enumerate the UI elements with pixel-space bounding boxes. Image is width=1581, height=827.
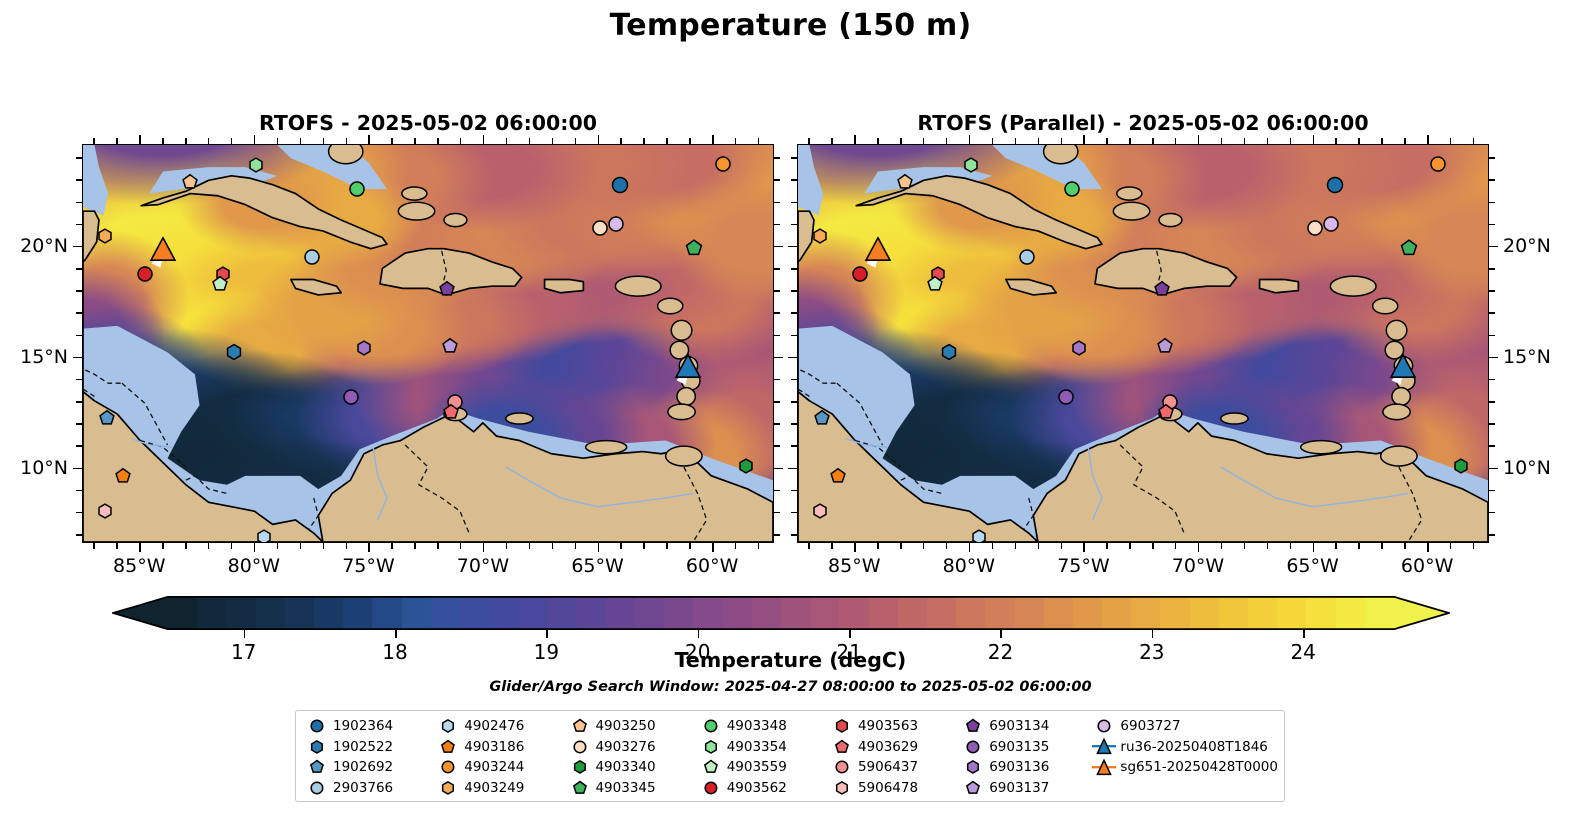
- lon-tick: [529, 543, 530, 549]
- lat-tick: [1489, 202, 1495, 203]
- colorbar-tick: [1303, 630, 1305, 638]
- argo-float-marker[interactable]: [611, 175, 630, 194]
- lat-tick-mirror: [791, 423, 797, 424]
- lon-tick: [1358, 543, 1359, 549]
- lon-tick: [854, 543, 855, 552]
- island-7: [668, 404, 695, 420]
- colorbar-outline: [112, 596, 1450, 630]
- colorbar-tick: [1000, 630, 1002, 638]
- lat-tick-mirror: [774, 290, 780, 291]
- lat-tick-mirror: [791, 179, 797, 180]
- legend-label: 4903563: [855, 718, 918, 734]
- legend-label: 1902522: [330, 739, 393, 755]
- glider-marker[interactable]: [149, 236, 177, 268]
- lon-tick-top: [666, 138, 667, 144]
- lon-tick-top: [643, 138, 644, 144]
- island-9: [1301, 441, 1342, 454]
- lat-tick: [76, 379, 82, 380]
- lon-tick-label: 75°W: [342, 555, 394, 577]
- lat-tick-mirror: [791, 445, 797, 446]
- argo-float-marker[interactable]: [212, 275, 229, 292]
- legend-label: 4903629: [855, 739, 918, 755]
- lon-tick-top: [391, 138, 392, 144]
- legend-entry[interactable]: ru36-20250408T1846: [1091, 737, 1278, 758]
- lon-tick: [1175, 543, 1176, 549]
- argo-float-marker[interactable]: [442, 403, 459, 420]
- lat-tick-label: 10°N: [20, 457, 68, 479]
- argo-float-marker[interactable]: [181, 173, 198, 190]
- lon-tick-top: [854, 135, 855, 144]
- lat-tick-mirror: [791, 268, 797, 269]
- lon-tick: [643, 543, 644, 549]
- lat-tick: [76, 490, 82, 491]
- legend-entry[interactable]: 6903135: [960, 737, 1091, 758]
- lon-tick-top: [1290, 138, 1291, 144]
- argo-float-marker[interactable]: [896, 173, 913, 190]
- lon-tick-top: [1129, 138, 1130, 144]
- lon-tick-top: [1381, 138, 1382, 144]
- lon-tick-top: [300, 138, 301, 144]
- argo-float-marker[interactable]: [348, 180, 366, 198]
- argo-float-marker[interactable]: [439, 280, 456, 297]
- legend-entry[interactable]: 6903136: [960, 757, 1091, 778]
- lon-tick: [808, 543, 809, 549]
- lon-tick-top: [1267, 138, 1268, 144]
- lon-tick: [277, 543, 278, 549]
- lon-tick: [1290, 543, 1291, 549]
- lon-tick: [414, 543, 415, 549]
- lat-tick: [76, 224, 82, 225]
- legend-entry[interactable]: 4903186: [435, 737, 566, 758]
- lon-tick: [1152, 543, 1153, 549]
- legend-hexagon-icon: [566, 759, 592, 775]
- argo-float-marker[interactable]: [355, 339, 372, 356]
- lat-tick-label: 20°N: [20, 235, 68, 257]
- legend-label: 2903766: [330, 780, 393, 796]
- legend-entry[interactable]: 4903563: [829, 716, 960, 737]
- lon-tick: [552, 543, 553, 549]
- argo-float-marker[interactable]: [1326, 175, 1345, 194]
- argo-float-marker[interactable]: [607, 214, 625, 232]
- legend-entry[interactable]: 6903134: [960, 716, 1091, 737]
- legend-label: 4903244: [461, 759, 524, 775]
- argo-float-marker[interactable]: [684, 239, 702, 257]
- legend-circle-icon: [566, 739, 592, 755]
- legend-label: 4903354: [724, 739, 787, 755]
- lat-tick-label: 10°N: [1503, 457, 1551, 479]
- argo-float-marker[interactable]: [1057, 387, 1075, 405]
- search-window-caption: Glider/Argo Search Window: 2025-04-27 08…: [0, 679, 1581, 695]
- lon-tick-top: [689, 138, 690, 144]
- lat-tick: [76, 157, 82, 158]
- lon-tick: [620, 543, 621, 549]
- lon-tick: [1106, 543, 1107, 549]
- argo-float-marker[interactable]: [811, 227, 828, 244]
- lon-tick-top: [900, 138, 901, 144]
- panel-title-rtofs: RTOFS - 2025-05-02 06:00:00: [82, 111, 774, 135]
- lat-tick-mirror: [774, 246, 783, 247]
- lat-tick-mirror: [774, 268, 780, 269]
- lat-tick-mirror: [791, 312, 797, 313]
- legend-entry[interactable]: 4903559: [698, 757, 829, 778]
- lon-tick-top: [1152, 138, 1153, 144]
- lon-tick: [460, 543, 461, 549]
- lat-tick: [1489, 379, 1495, 380]
- legend-label: 4903250: [592, 718, 655, 734]
- legend-pentagon-icon: [304, 759, 330, 775]
- legend-entry[interactable]: 6903137: [960, 778, 1091, 799]
- lon-tick-top: [185, 138, 186, 144]
- lat-tick-mirror: [774, 157, 780, 158]
- island-9: [586, 441, 627, 454]
- lon-tick-top: [346, 138, 347, 144]
- lat-tick-mirror: [774, 179, 780, 180]
- legend-hexagon-icon: [435, 718, 461, 734]
- lat-tick: [1489, 357, 1498, 358]
- lat-tick: [1489, 335, 1495, 336]
- lon-tick-top: [139, 135, 140, 144]
- lat-tick: [1489, 179, 1495, 180]
- legend-entry[interactable]: 6903727: [1091, 716, 1278, 737]
- lon-tick-top: [1061, 138, 1062, 144]
- lon-tick: [1221, 543, 1222, 549]
- legend-circle-icon: [960, 739, 986, 755]
- lon-tick: [483, 543, 484, 552]
- argo-float-marker[interactable]: [1429, 155, 1447, 173]
- legend-label: 5906478: [855, 780, 918, 796]
- lat-tick: [73, 246, 82, 247]
- legend-circle-icon: [829, 759, 855, 775]
- lon-tick-top: [992, 138, 993, 144]
- legend-pentagon-icon: [960, 780, 986, 796]
- lat-tick: [76, 179, 82, 180]
- legend-label: 6903137: [986, 780, 1049, 796]
- argo-float-marker[interactable]: [962, 156, 979, 173]
- legend-hexagon-icon: [829, 718, 855, 734]
- argo-float-marker[interactable]: [1157, 403, 1174, 420]
- glider-marker[interactable]: [864, 236, 892, 268]
- lon-tick: [1335, 543, 1336, 549]
- legend-circle-icon: [698, 780, 724, 796]
- legend-entry[interactable]: 2903766: [304, 778, 435, 799]
- lon-tick: [1061, 543, 1062, 549]
- glider-marker[interactable]: [1389, 354, 1417, 386]
- lon-tick: [300, 543, 301, 549]
- island-8: [1381, 446, 1417, 466]
- lon-tick: [93, 543, 94, 549]
- argo-float-marker[interactable]: [927, 275, 944, 292]
- island-7: [1383, 404, 1410, 420]
- lon-tick-top: [1106, 138, 1107, 144]
- lon-tick-top: [529, 138, 530, 144]
- legend-label: 4903562: [724, 780, 787, 796]
- legend-entry[interactable]: 4903348: [698, 716, 829, 737]
- legend-entry[interactable]: 4903249: [435, 778, 566, 799]
- legend-entry[interactable]: 1902522: [304, 737, 435, 758]
- lon-tick: [946, 543, 947, 549]
- argo-float-marker[interactable]: [1322, 214, 1340, 232]
- lat-tick: [76, 335, 82, 336]
- lat-tick-mirror: [791, 401, 797, 402]
- legend-entry[interactable]: 4903276: [566, 737, 697, 758]
- argo-float-marker[interactable]: [342, 387, 360, 405]
- lon-tick-label: 80°W: [228, 555, 280, 577]
- lon-tick: [185, 543, 186, 549]
- island-0: [1330, 276, 1376, 296]
- island-6: [1392, 388, 1410, 406]
- lat-tick-mirror: [774, 468, 783, 469]
- colorbar-tick: [698, 630, 700, 638]
- lat-tick-mirror: [788, 468, 797, 469]
- island-2: [671, 320, 692, 340]
- lat-tick: [1489, 534, 1495, 535]
- island-10: [1221, 413, 1248, 424]
- platform-legend[interactable]: 1902364190252219026922903766490247649031…: [295, 710, 1285, 802]
- lon-tick-label: 60°W: [1401, 555, 1453, 577]
- lon-tick: [666, 543, 667, 549]
- lon-tick-top: [620, 138, 621, 144]
- lat-tick: [1489, 312, 1495, 313]
- lat-tick-mirror: [774, 312, 780, 313]
- lat-tick: [76, 268, 82, 269]
- lon-tick: [1015, 543, 1016, 549]
- panel-title-rtofs-parallel: RTOFS (Parallel) - 2025-05-02 06:00:00: [797, 111, 1489, 135]
- argo-float-marker[interactable]: [1156, 337, 1173, 354]
- colorbar-tick: [1152, 630, 1154, 638]
- legend-label: ru36-20250408T1846: [1117, 739, 1267, 755]
- lat-tick: [1489, 157, 1495, 158]
- lon-tick-top: [1015, 138, 1016, 144]
- lat-tick: [1489, 468, 1498, 469]
- lon-tick-top: [277, 138, 278, 144]
- legend-label: 4903559: [724, 759, 787, 775]
- lon-tick: [831, 543, 832, 549]
- legend-entry[interactable]: 4903340: [566, 757, 697, 778]
- lon-tick: [1038, 543, 1039, 549]
- lon-tick-label: 70°W: [457, 555, 509, 577]
- lat-tick: [1489, 512, 1495, 513]
- lon-tick-label: 70°W: [1172, 555, 1224, 577]
- map-canvas-rtofs[interactable]: [82, 144, 774, 543]
- legend-label: 5906437: [855, 759, 918, 775]
- lon-tick-label: 65°W: [1286, 555, 1338, 577]
- legend-label: 6903134: [986, 718, 1049, 734]
- legend-entry[interactable]: 5906478: [829, 778, 960, 799]
- argo-float-marker[interactable]: [811, 502, 828, 519]
- lon-tick-top: [735, 138, 736, 144]
- legend-grid: 1902364190252219026922903766490247649031…: [304, 716, 1278, 798]
- lat-tick: [1489, 490, 1495, 491]
- argo-float-marker[interactable]: [1399, 239, 1417, 257]
- island-2: [1386, 320, 1407, 340]
- lon-tick: [992, 543, 993, 549]
- legend-entry[interactable]: 4903354: [698, 737, 829, 758]
- argo-float-marker[interactable]: [1453, 458, 1470, 475]
- lon-tick-top: [969, 135, 970, 144]
- colorbar[interactable]: 1718192021222324: [112, 596, 1450, 630]
- lon-tick-top: [598, 135, 599, 144]
- lon-tick-top: [460, 138, 461, 144]
- argo-float-marker[interactable]: [970, 529, 987, 543]
- legend-entry[interactable]: 4903244: [435, 757, 566, 778]
- lon-tick-top: [162, 138, 163, 144]
- lat-tick: [1489, 290, 1495, 291]
- lon-tick-top: [1175, 138, 1176, 144]
- lat-tick: [76, 445, 82, 446]
- argo-float-marker[interactable]: [247, 156, 264, 173]
- argo-float-marker[interactable]: [1070, 339, 1087, 356]
- lat-tick-mirror: [774, 401, 780, 402]
- lon-tick: [1473, 543, 1474, 549]
- lon-tick-label: 80°W: [943, 555, 995, 577]
- lon-tick-top: [831, 138, 832, 144]
- lon-tick: [391, 543, 392, 549]
- lon-tick-label: 60°W: [686, 555, 738, 577]
- legend-pentagon-icon: [698, 759, 724, 775]
- legend-label: 6903727: [1117, 718, 1180, 734]
- legend-label: 6903136: [986, 759, 1049, 775]
- legend-circle-icon: [698, 718, 724, 734]
- lon-tick: [758, 543, 759, 549]
- argo-float-marker[interactable]: [96, 227, 113, 244]
- legend-pentagon-icon: [829, 739, 855, 755]
- legend-circle-icon: [435, 759, 461, 775]
- lon-tick-top: [1244, 138, 1245, 144]
- legend-entry[interactable]: sg651-20250428T0000: [1091, 757, 1278, 778]
- legend-entry[interactable]: 4902476: [435, 716, 566, 737]
- island-8: [666, 446, 702, 466]
- lat-tick-label: 15°N: [20, 346, 68, 368]
- lat-tick: [76, 290, 82, 291]
- legend-pentagon-icon: [566, 780, 592, 796]
- lon-tick: [437, 543, 438, 549]
- argo-float-marker[interactable]: [303, 248, 321, 266]
- legend-circle-icon: [304, 780, 330, 796]
- lon-tick: [1244, 543, 1245, 549]
- argo-float-marker[interactable]: [738, 458, 755, 475]
- legend-pentagon-icon: [435, 739, 461, 755]
- argo-float-marker[interactable]: [1018, 248, 1036, 266]
- island-17: [1117, 187, 1142, 200]
- argo-float-marker[interactable]: [940, 343, 958, 361]
- lon-tick: [346, 543, 347, 549]
- lon-tick-top: [1335, 138, 1336, 144]
- lon-tick-top: [758, 138, 759, 144]
- lon-tick: [506, 543, 507, 549]
- argo-float-marker[interactable]: [1063, 180, 1081, 198]
- argo-float-marker[interactable]: [441, 337, 458, 354]
- lon-tick: [735, 543, 736, 549]
- lon-tick-label: 85°W: [113, 555, 165, 577]
- lon-tick-top: [712, 135, 713, 144]
- lat-tick: [76, 512, 82, 513]
- landmass-jamaica: [1006, 280, 1056, 295]
- legend-label: 4903276: [592, 739, 655, 755]
- lon-tick-top: [1404, 138, 1405, 144]
- lon-tick-top: [1358, 138, 1359, 144]
- legend-pentagon-icon: [566, 718, 592, 734]
- island-12: [1113, 202, 1149, 220]
- lon-tick: [689, 543, 690, 549]
- lon-tick-top: [483, 135, 484, 144]
- lat-tick-mirror: [774, 357, 783, 358]
- lat-tick-mirror: [788, 246, 797, 247]
- argo-float-marker[interactable]: [98, 409, 115, 426]
- lat-tick: [76, 401, 82, 402]
- lon-tick: [1404, 543, 1405, 549]
- shelf-bahama_bank: [983, 144, 1102, 189]
- island-0: [615, 276, 661, 296]
- lon-tick-top: [1313, 135, 1314, 144]
- map-canvas-rtofs-parallel[interactable]: [797, 144, 1489, 543]
- lat-tick-mirror: [791, 202, 797, 203]
- lon-tick: [969, 543, 970, 552]
- legend-glider-icon: [1091, 738, 1117, 755]
- argo-float-marker[interactable]: [114, 468, 131, 485]
- lon-tick: [368, 543, 369, 552]
- legend-entry[interactable]: 1902692: [304, 757, 435, 778]
- lat-tick: [73, 357, 82, 358]
- island-6: [677, 388, 695, 406]
- colorbar-tick: [849, 630, 851, 638]
- glider-marker[interactable]: [674, 354, 702, 386]
- lat-tick: [1489, 246, 1498, 247]
- lon-tick: [1267, 543, 1268, 549]
- argo-float-marker[interactable]: [96, 502, 113, 519]
- legend-entry[interactable]: 4903562: [698, 778, 829, 799]
- legend-entry[interactable]: 4903250: [566, 716, 697, 737]
- argo-float-marker[interactable]: [813, 409, 830, 426]
- lat-tick-mirror: [774, 379, 780, 380]
- legend-label: sg651-20250428T0000: [1117, 759, 1278, 775]
- legend-entry[interactable]: 5906437: [829, 757, 960, 778]
- lon-tick-top: [552, 138, 553, 144]
- map-panel-rtofs-parallel[interactable]: RTOFS (Parallel) - 2025-05-02 06:00:00 8…: [797, 144, 1489, 543]
- legend-entry[interactable]: 4903629: [829, 737, 960, 758]
- lon-tick: [254, 543, 255, 552]
- lon-tick: [116, 543, 117, 549]
- lon-tick-top: [1198, 135, 1199, 144]
- lon-tick: [900, 543, 901, 549]
- argo-float-marker[interactable]: [714, 155, 732, 173]
- argo-float-marker[interactable]: [1154, 280, 1171, 297]
- lon-tick: [139, 543, 140, 552]
- argo-float-marker[interactable]: [829, 468, 846, 485]
- legend-glider-icon: [1091, 759, 1117, 776]
- lon-tick: [162, 543, 163, 549]
- legend-entry[interactable]: 4903345: [566, 778, 697, 799]
- lon-tick-top: [93, 138, 94, 144]
- lat-tick-mirror: [774, 445, 780, 446]
- legend-entry[interactable]: 1902364: [304, 716, 435, 737]
- coastline-overlay-rtofs-parallel: [798, 145, 1488, 542]
- legend-hexagon-icon: [829, 780, 855, 796]
- map-panel-rtofs[interactable]: RTOFS - 2025-05-02 06:00:00 85°W80°W75°W…: [82, 144, 774, 543]
- argo-float-marker[interactable]: [225, 343, 243, 361]
- lat-tick-mirror: [774, 202, 780, 203]
- argo-float-marker[interactable]: [255, 529, 272, 543]
- legend-label: 4903186: [461, 739, 524, 755]
- colorbar-tick: [546, 630, 548, 638]
- legend-hexagon-icon: [435, 780, 461, 796]
- legend-label: 1902364: [330, 718, 393, 734]
- lon-tick-top: [437, 138, 438, 144]
- lon-tick-top: [1221, 138, 1222, 144]
- lon-tick-label: 65°W: [571, 555, 623, 577]
- lon-tick-top: [1427, 135, 1428, 144]
- island-12: [398, 202, 434, 220]
- lat-tick-mirror: [791, 534, 797, 535]
